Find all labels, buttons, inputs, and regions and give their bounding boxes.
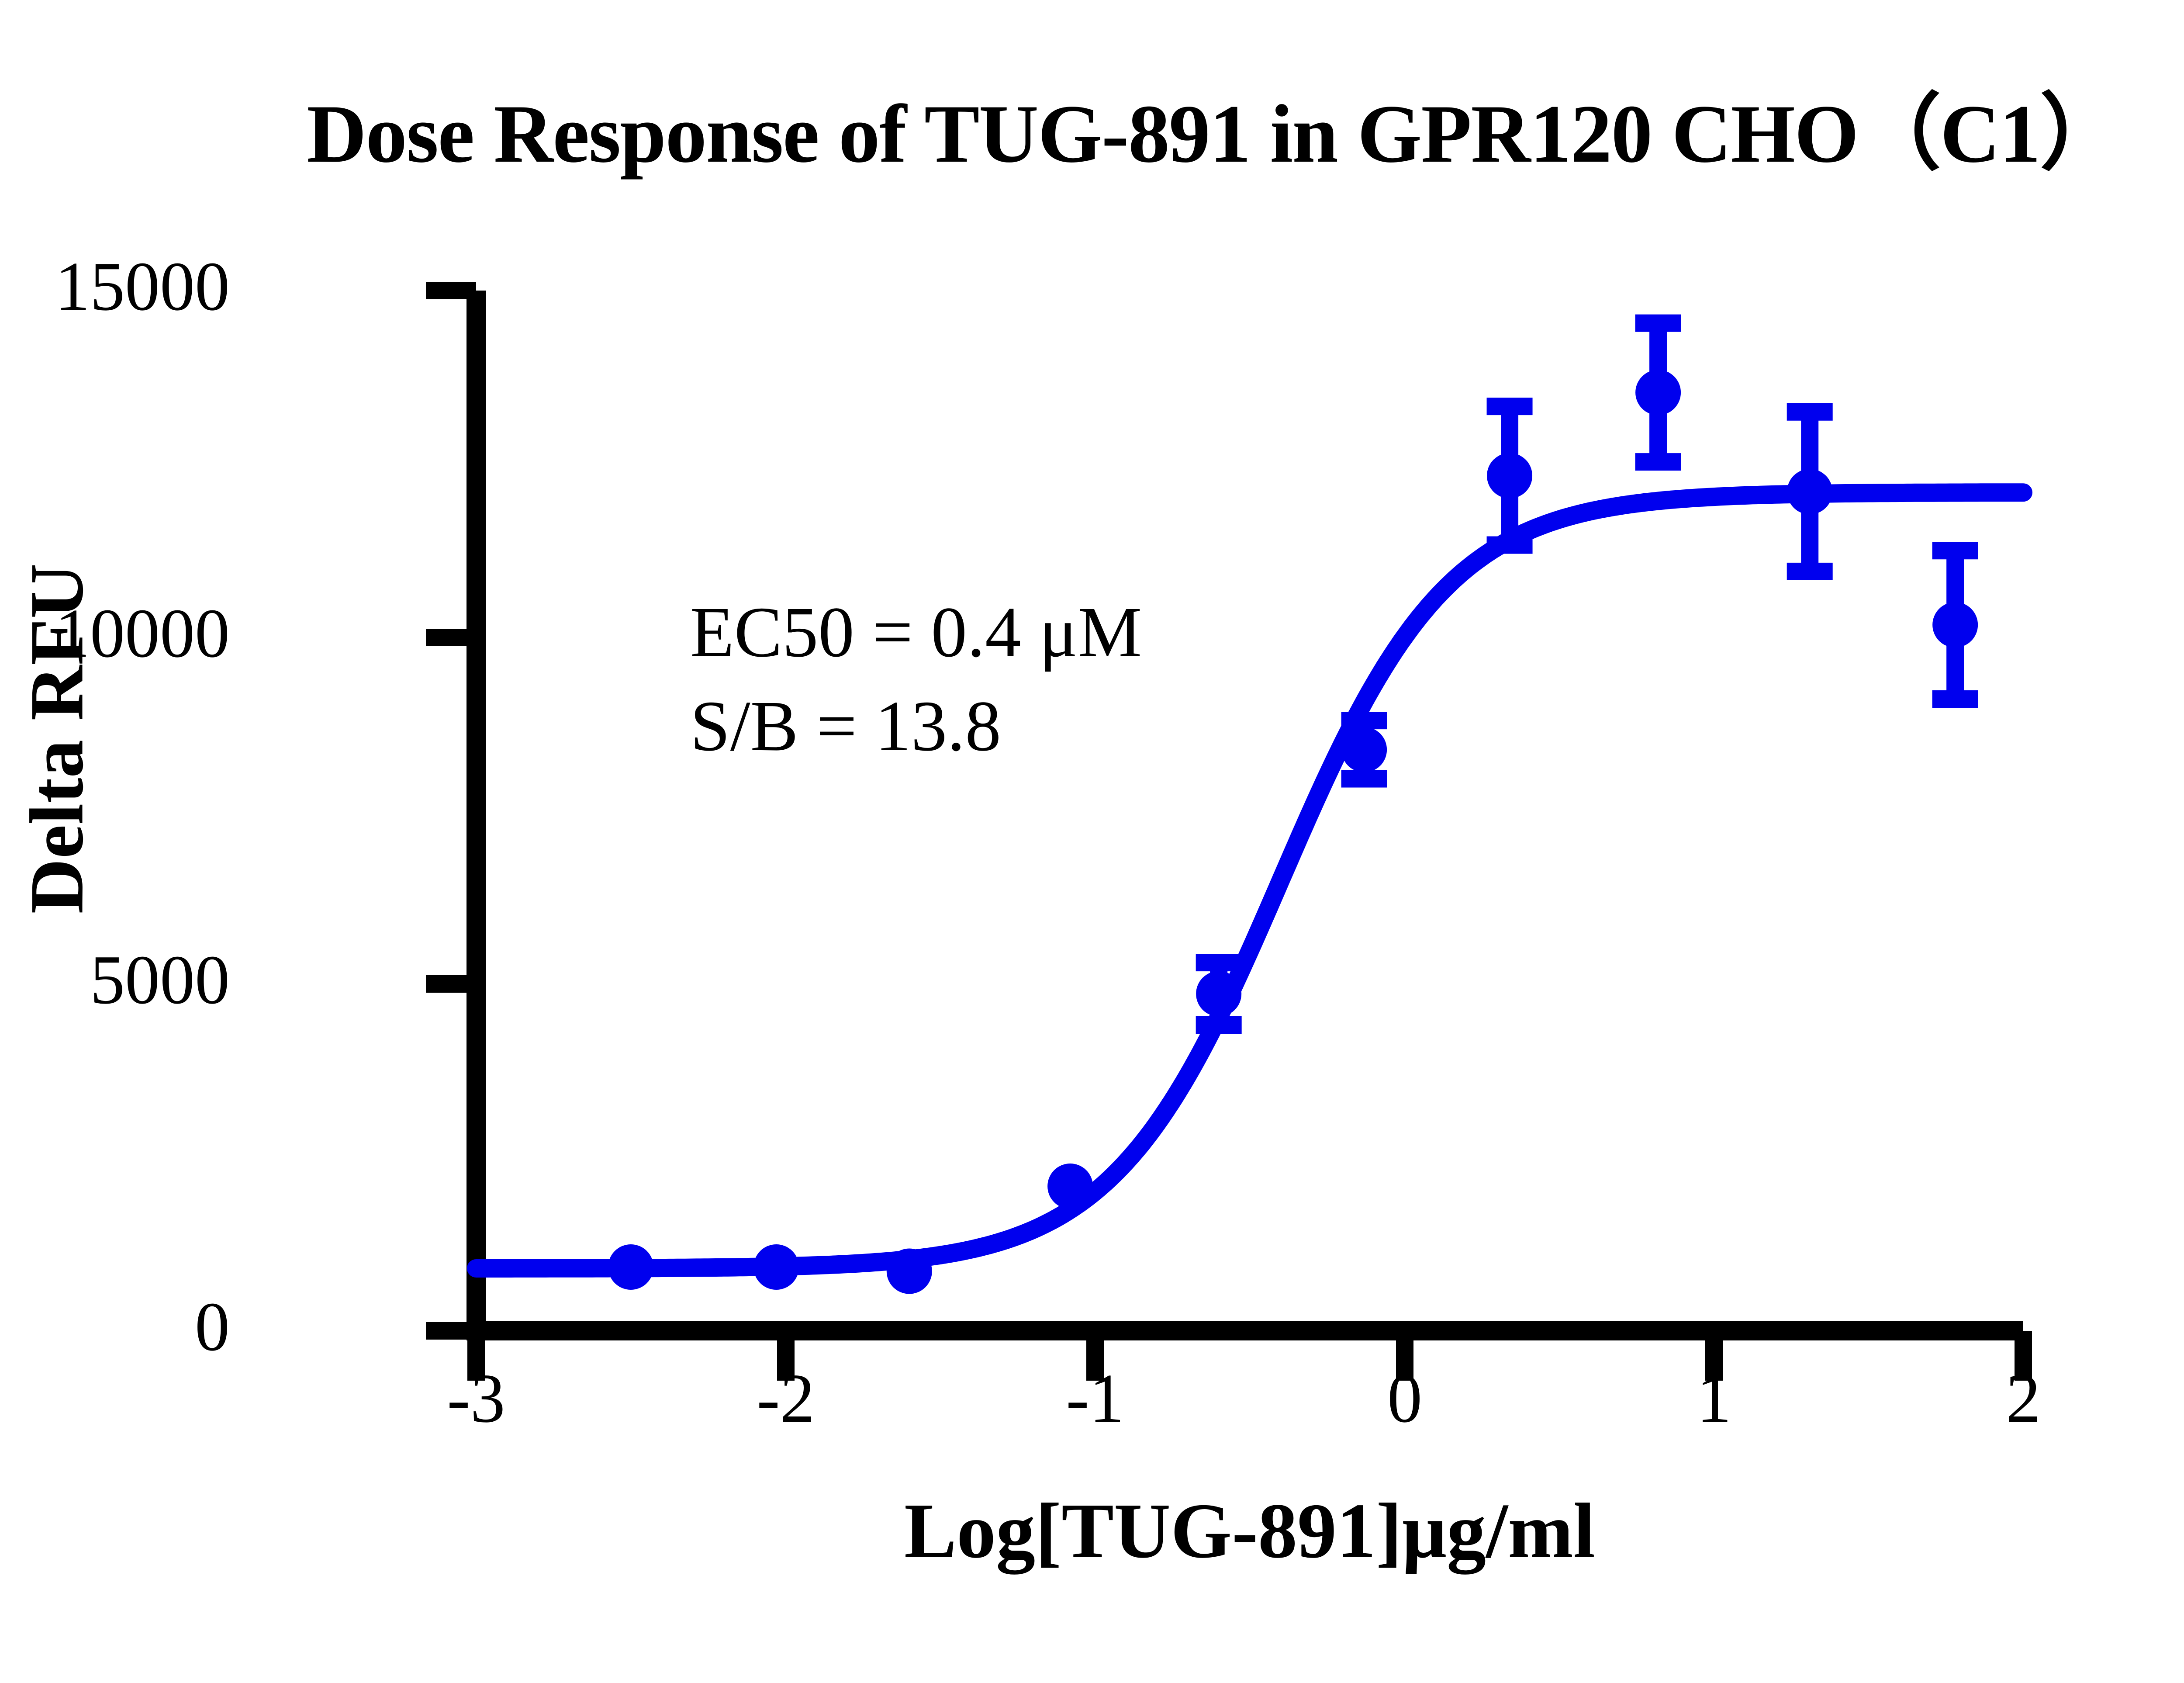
chart-canvas: Dose Response of TUG-891 in GPR120 CHO（C… [0,0,2184,1683]
data-point-marker [1487,453,1532,499]
fit-curve [476,492,2023,1268]
data-point-marker [1635,370,1681,415]
data-point-marker [1047,1164,1093,1209]
data-point-marker [887,1248,932,1294]
data-point-marker [1932,602,1978,648]
data-point-marker [608,1244,653,1290]
axis-spines [467,291,2023,1331]
data-point-marker [1787,469,1832,514]
data-point-marker [1196,971,1241,1017]
data-point-marker [753,1244,799,1290]
plot-area [0,0,2184,1683]
error-bars-group [1196,323,1978,1025]
data-point-marker [1341,727,1387,772]
